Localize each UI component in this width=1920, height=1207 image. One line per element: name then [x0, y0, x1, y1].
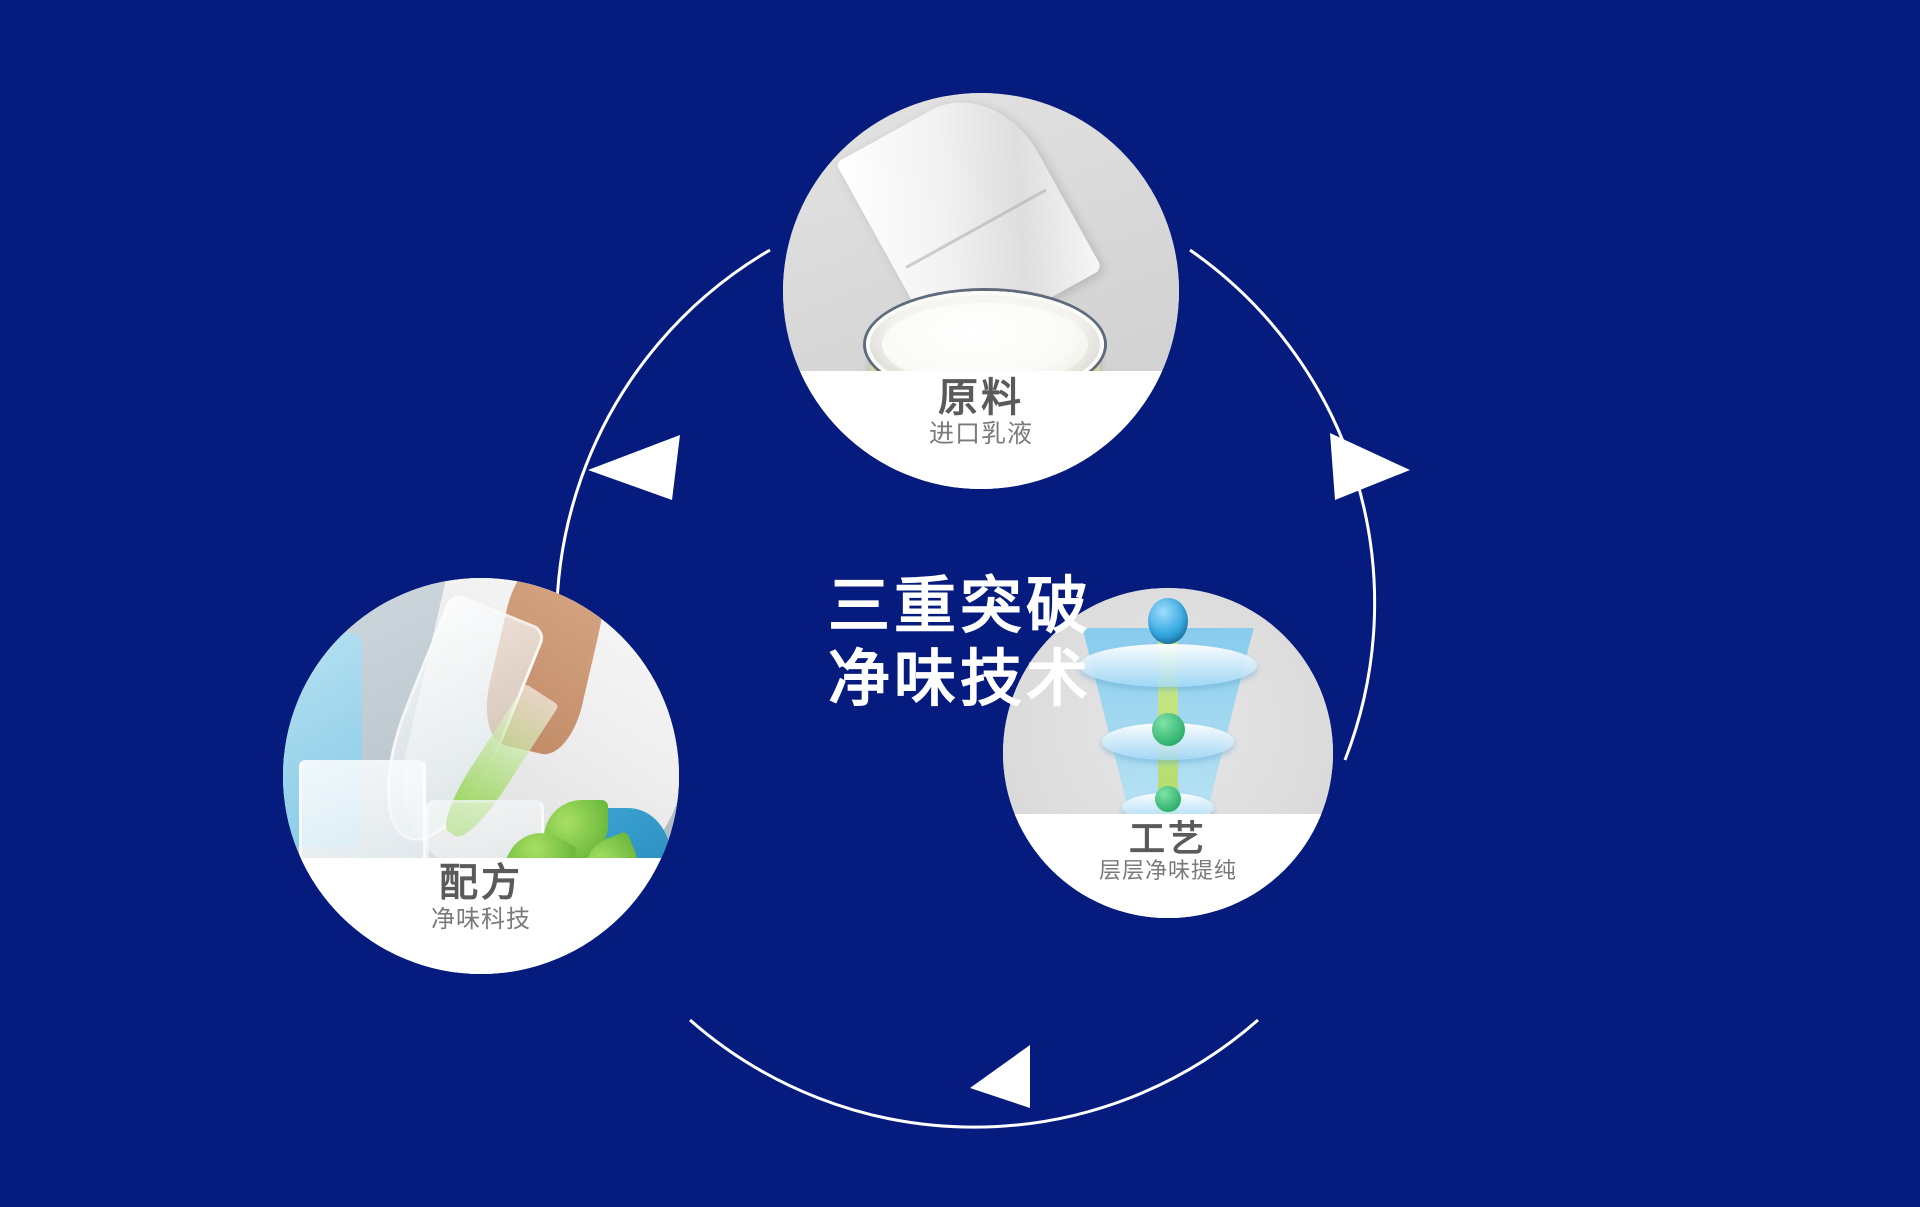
arrow-head-bottom	[970, 1045, 1030, 1108]
node-raw-material[interactable]: 原料 进口乳液	[783, 93, 1179, 489]
node-caption: 工艺 层层净味提纯	[1003, 814, 1333, 918]
node-caption: 配方 净味科技	[283, 858, 679, 974]
headline: 三重突破 净味技术	[0, 570, 1920, 716]
node-subtitle: 进口乳液	[929, 421, 1033, 449]
arrow-head-right	[1330, 433, 1410, 500]
node-subtitle: 净味科技	[431, 907, 531, 933]
ring-arc-bottom	[690, 1020, 1258, 1127]
node-caption: 原料 进口乳液	[783, 371, 1179, 489]
node-title: 工艺	[1129, 820, 1207, 858]
headline-line-1: 三重突破	[0, 570, 1920, 643]
node-subtitle: 层层净味提纯	[1099, 859, 1237, 883]
headline-line-2: 净味技术	[0, 643, 1920, 716]
arrow-head-left	[588, 435, 680, 500]
node-title: 配方	[439, 864, 523, 905]
poster-canvas: 原料 进口乳液 配方 净味科技	[0, 0, 1920, 1207]
node-title: 原料	[938, 377, 1024, 419]
